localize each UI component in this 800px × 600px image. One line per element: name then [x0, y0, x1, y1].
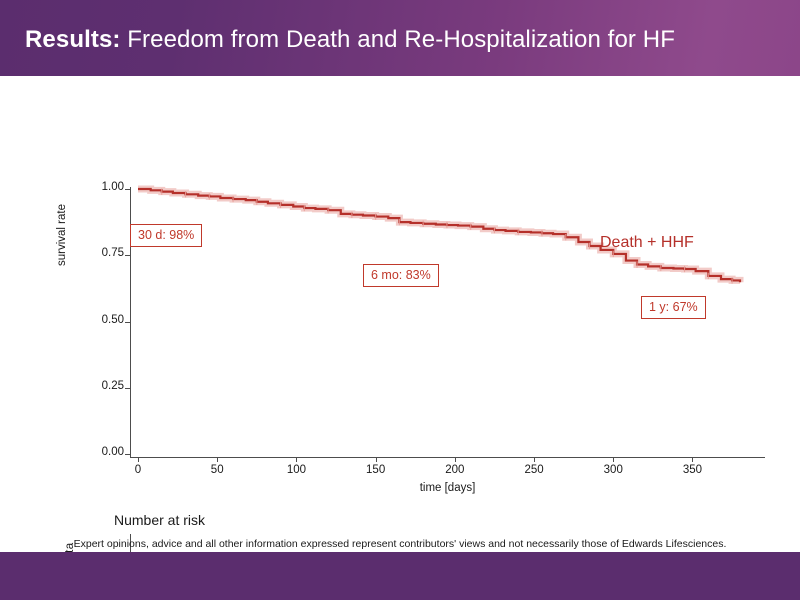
slide-root: Results: Freedom from Death and Re-Hospi…: [0, 0, 800, 600]
km-plot-panel: survival rate time [days] 30 d: 98% 6 mo…: [0, 76, 800, 526]
x-tick: [613, 457, 614, 462]
y-tick-label: 0.50: [64, 314, 124, 326]
annotation-1-year: 1 y: 67%: [641, 296, 706, 319]
x-tick: [296, 457, 297, 462]
y-tick: [125, 454, 130, 455]
annotation-6-month: 6 mo: 83%: [363, 264, 439, 287]
x-tick-label: 150: [356, 464, 396, 476]
y-tick-label: 0.00: [64, 446, 124, 458]
y-tick-label: 0.25: [64, 380, 124, 392]
annotation-30-day: 30 d: 98%: [130, 224, 202, 247]
disclaimer-text: Expert opinions, advice and all other in…: [0, 538, 800, 550]
x-tick: [138, 457, 139, 462]
x-tick: [376, 457, 377, 462]
x-tick-label: 350: [672, 464, 712, 476]
x-tick-label: 100: [276, 464, 316, 476]
x-tick: [534, 457, 535, 462]
x-tick-label: 200: [435, 464, 475, 476]
y-tick-label: 0.75: [64, 247, 124, 259]
x-tick-label: 300: [593, 464, 633, 476]
x-tick-label: 0: [118, 464, 158, 476]
slide-footer: 2022 euro PCR EuroPCR.com EAPCI European…: [0, 552, 800, 600]
y-tick-label: 1.00: [64, 181, 124, 193]
y-tick: [125, 189, 130, 190]
y-tick: [125, 388, 130, 389]
slide-header: Results: Freedom from Death and Re-Hospi…: [0, 0, 800, 76]
x-tick: [217, 457, 218, 462]
x-tick-label: 50: [197, 464, 237, 476]
page-title: Results: Freedom from Death and Re-Hospi…: [25, 26, 675, 54]
page-title-lead: Results:: [25, 26, 121, 53]
y-tick: [125, 322, 130, 323]
y-tick: [125, 255, 130, 256]
risk-table-title: Number at risk: [114, 512, 205, 528]
curve-label-death-hhf: Death + HHF: [600, 234, 694, 252]
x-tick: [692, 457, 693, 462]
x-tick: [455, 457, 456, 462]
x-tick-label: 250: [514, 464, 554, 476]
page-title-rest: Freedom from Death and Re-Hospitalizatio…: [121, 26, 675, 53]
